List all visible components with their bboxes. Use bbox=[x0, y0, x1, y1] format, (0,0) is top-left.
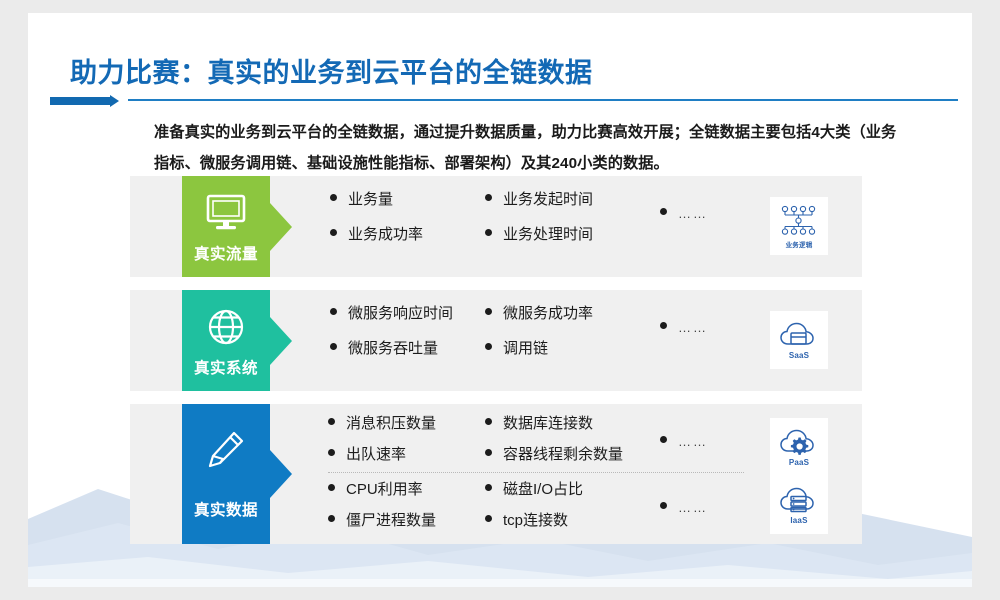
icon-card-caption: PaaS bbox=[789, 458, 809, 467]
icon-card-paas: PaaS bbox=[770, 418, 828, 476]
list-item: CPU利用率 bbox=[328, 480, 478, 499]
list-item-label: 数据库连接数 bbox=[503, 414, 593, 433]
list-item-label: 业务量 bbox=[348, 190, 393, 209]
list-item-label: 业务发起时间 bbox=[503, 190, 593, 209]
bullet-dot-icon bbox=[328, 418, 335, 425]
list-item: 业务量 bbox=[330, 190, 480, 209]
bullet-dot-icon bbox=[330, 194, 337, 201]
list-item-label: 出队速率 bbox=[346, 445, 406, 464]
icon-card-business-logic: 业务逻辑 bbox=[770, 197, 828, 255]
data-row-real-system: 真实系统 微服务响应时间 微服务吞吐量 微服务成功率 调用链 …… bbox=[130, 290, 862, 391]
list-item: 消息积压数量 bbox=[328, 414, 478, 433]
bullet-dot-icon bbox=[330, 343, 337, 350]
row1-column-2: 业务发起时间 业务处理时间 bbox=[485, 190, 685, 260]
bullet-dot-icon bbox=[660, 436, 667, 443]
icon-card-caption: SaaS bbox=[789, 351, 809, 360]
saas-cloud-icon bbox=[779, 320, 819, 350]
title-underline bbox=[50, 95, 958, 107]
list-item-label: …… bbox=[678, 318, 708, 337]
bullet-dot-icon bbox=[485, 343, 492, 350]
list-item-more: …… bbox=[660, 318, 780, 337]
list-item: 微服务成功率 bbox=[485, 304, 685, 323]
row2-column-3: …… bbox=[660, 304, 780, 353]
bullet-dot-icon bbox=[660, 208, 667, 215]
list-item: 出队速率 bbox=[328, 445, 478, 464]
business-logic-tree-icon bbox=[779, 204, 819, 238]
list-item-label: …… bbox=[678, 204, 708, 223]
icon-card-caption: 业务逻辑 bbox=[786, 239, 813, 249]
bullet-dot-icon bbox=[485, 515, 492, 522]
row3-group-a: 消息积压数量 出队速率 数据库连接数 容器线程剩余数量 …… bbox=[130, 414, 862, 472]
row1-content: 业务量 业务成功率 业务发起时间 业务处理时间 …… bbox=[130, 190, 862, 264]
row1-column-3: …… bbox=[660, 190, 780, 239]
slide-canvas: 助力比赛：真实的业务到云平台的全链数据 准备真实的业务到云平台的全链数据，通过提… bbox=[28, 13, 972, 587]
row3b-column-3: …… bbox=[660, 480, 780, 529]
row2-column-1: 微服务响应时间 微服务吞吐量 bbox=[330, 304, 480, 374]
list-item-more: …… bbox=[660, 432, 780, 451]
row1-column-1: 业务量 业务成功率 bbox=[330, 190, 480, 260]
row2-column-2: 微服务成功率 调用链 bbox=[485, 304, 685, 374]
bullet-dot-icon bbox=[485, 308, 492, 315]
bullet-dot-icon bbox=[328, 515, 335, 522]
bullet-dot-icon bbox=[485, 449, 492, 456]
bullet-dot-icon bbox=[660, 502, 667, 509]
row3a-column-3: …… bbox=[660, 414, 780, 463]
list-item-label: 业务成功率 bbox=[348, 225, 423, 244]
paas-cloud-gear-icon bbox=[779, 427, 819, 457]
title-rule-line bbox=[128, 99, 958, 101]
list-item: 僵尸进程数量 bbox=[328, 511, 478, 530]
list-item-label: 调用链 bbox=[503, 339, 548, 358]
bullet-dot-icon bbox=[485, 484, 492, 491]
title-arrow-marker bbox=[50, 97, 110, 105]
list-item: 调用链 bbox=[485, 339, 685, 358]
icon-card-iaas: IaaS bbox=[770, 476, 828, 534]
bullet-dot-icon bbox=[485, 229, 492, 236]
bullet-dot-icon bbox=[485, 418, 492, 425]
bullet-dot-icon bbox=[330, 308, 337, 315]
slide-description: 准备真实的业务到云平台的全链数据，通过提升数据质量，助力比赛高效开展；全链数据主… bbox=[154, 117, 898, 179]
row3-group-b: CPU利用率 僵尸进程数量 磁盘I/O占比 tcp连接数 …… bbox=[130, 480, 862, 538]
data-row-real-data: 真实数据 消息积压数量 出队速率 数据库连接数 容器线程剩余数量 …… CPU利… bbox=[130, 404, 862, 544]
list-item-label: tcp连接数 bbox=[503, 511, 568, 530]
list-item: 业务成功率 bbox=[330, 225, 480, 244]
list-item: 微服务吞吐量 bbox=[330, 339, 480, 358]
row2-content: 微服务响应时间 微服务吞吐量 微服务成功率 调用链 …… bbox=[130, 304, 862, 378]
list-item-more: …… bbox=[660, 498, 780, 517]
bullet-dot-icon bbox=[328, 449, 335, 456]
row3a-column-1: 消息积压数量 出队速率 bbox=[328, 414, 478, 476]
list-item-label: 僵尸进程数量 bbox=[346, 511, 436, 530]
list-item-label: 微服务成功率 bbox=[503, 304, 593, 323]
bullet-dot-icon bbox=[328, 484, 335, 491]
data-row-real-traffic: 真实流量 业务量 业务成功率 业务发起时间 业务处理时间 …… bbox=[130, 176, 862, 277]
icon-card-saas: SaaS bbox=[770, 311, 828, 369]
icon-card-caption: IaaS bbox=[790, 516, 807, 525]
list-item-label: 消息积压数量 bbox=[346, 414, 436, 433]
list-item-more: …… bbox=[660, 204, 780, 223]
list-item-label: CPU利用率 bbox=[346, 480, 423, 499]
list-item-label: 容器线程剩余数量 bbox=[503, 445, 623, 464]
list-item-label: …… bbox=[678, 432, 708, 451]
list-item-label: 磁盘I/O占比 bbox=[503, 480, 583, 499]
bullet-dot-icon bbox=[485, 194, 492, 201]
list-item: 微服务响应时间 bbox=[330, 304, 480, 323]
list-item-label: 微服务响应时间 bbox=[348, 304, 453, 323]
list-item-label: …… bbox=[678, 498, 708, 517]
list-item-label: 微服务吞吐量 bbox=[348, 339, 438, 358]
list-item-label: 业务处理时间 bbox=[503, 225, 593, 244]
row3-dotted-divider bbox=[328, 472, 744, 473]
bullet-dot-icon bbox=[330, 229, 337, 236]
bullet-dot-icon bbox=[660, 322, 667, 329]
list-item: 业务处理时间 bbox=[485, 225, 685, 244]
row3b-column-1: CPU利用率 僵尸进程数量 bbox=[328, 480, 478, 542]
list-item: 业务发起时间 bbox=[485, 190, 685, 209]
page-title: 助力比赛：真实的业务到云平台的全链数据 bbox=[70, 51, 593, 90]
iaas-cloud-server-icon bbox=[779, 485, 819, 515]
